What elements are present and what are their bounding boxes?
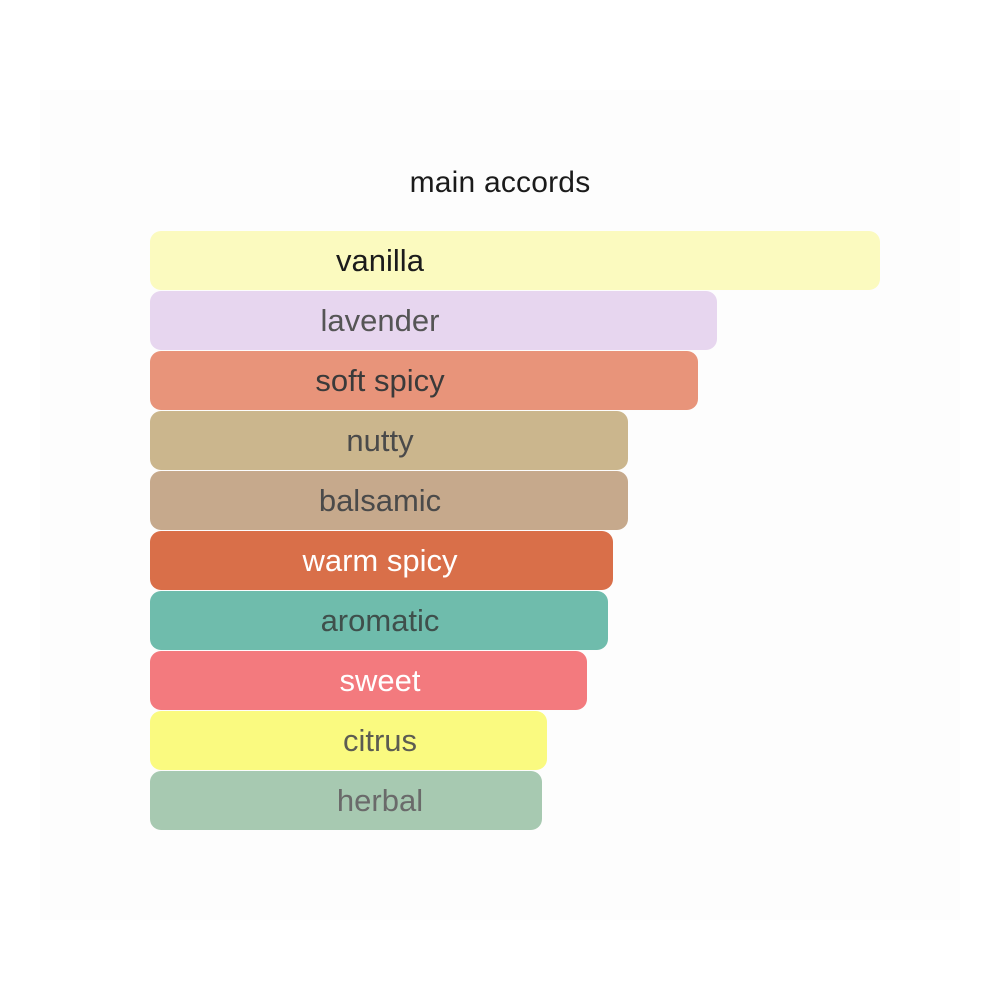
accord-bar[interactable]	[150, 711, 547, 770]
accord-bar-row[interactable]: sweet	[150, 651, 910, 711]
accord-bar-row[interactable]: lavender	[150, 291, 910, 351]
accord-bar-row[interactable]: balsamic	[150, 471, 910, 531]
accord-bar[interactable]	[150, 231, 880, 290]
accord-bar-row[interactable]: herbal	[150, 771, 910, 831]
accord-bar-row[interactable]: aromatic	[150, 591, 910, 651]
accord-bar-row[interactable]: nutty	[150, 411, 910, 471]
accord-bar[interactable]	[150, 651, 587, 710]
accord-bar[interactable]	[150, 411, 628, 470]
main-accords-chart: main accords vanillalavendersoft spicynu…	[0, 0, 1000, 1000]
accord-bar[interactable]	[150, 591, 608, 650]
accord-bar[interactable]	[150, 351, 698, 410]
chart-title: main accords	[0, 166, 1000, 200]
accord-bar[interactable]	[150, 291, 717, 350]
accord-bar-row[interactable]: citrus	[150, 711, 910, 771]
accord-bar[interactable]	[150, 771, 542, 830]
accord-bar-row[interactable]: vanilla	[150, 231, 910, 291]
accord-bar-row[interactable]: soft spicy	[150, 351, 910, 411]
accord-bar[interactable]	[150, 471, 628, 530]
accord-bars-list: vanillalavendersoft spicynuttybalsamicwa…	[150, 231, 910, 831]
accord-bar[interactable]	[150, 531, 613, 590]
accord-bar-row[interactable]: warm spicy	[150, 531, 910, 591]
